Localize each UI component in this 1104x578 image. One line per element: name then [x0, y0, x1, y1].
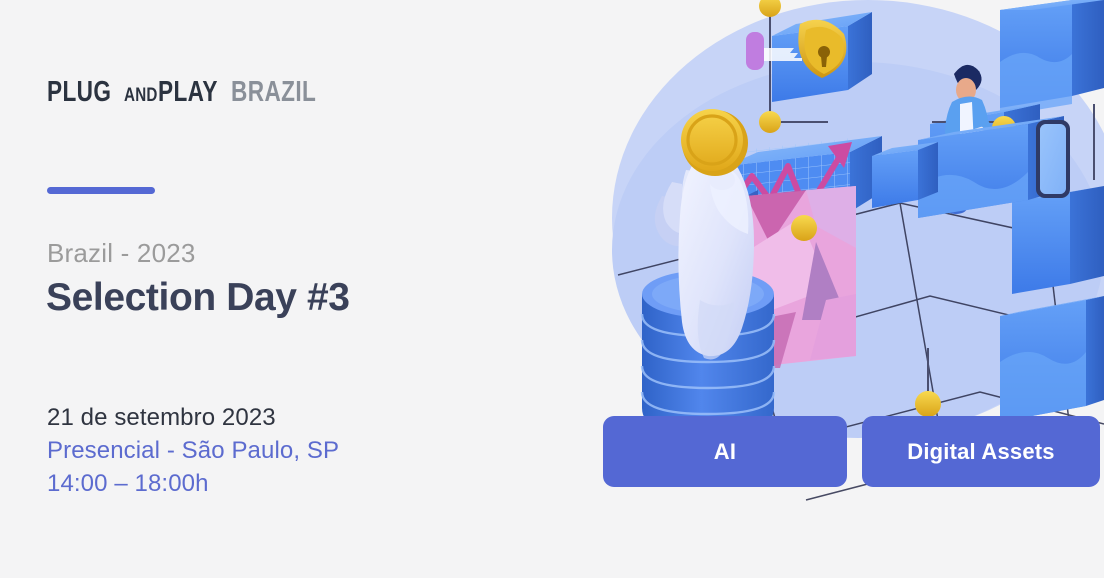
logo-word-and: AND [124, 85, 158, 107]
page-title: Selection Day #3 [46, 276, 350, 320]
event-details: 21 de setembro 2023 Presencial - São Pau… [47, 401, 339, 500]
logo-word-brazil: BRAZIL [231, 76, 316, 109]
plug-and-play-brazil-logo: PLUG AND PLAY BRAZIL [47, 76, 340, 109]
tag-ai[interactable]: AI [603, 416, 847, 487]
logo-word-play: PLAY [158, 76, 218, 109]
event-date: 21 de setembro 2023 [47, 401, 339, 434]
event-time: 14:00 – 18:00h [47, 467, 339, 500]
event-location: Presencial - São Paulo, SP [47, 434, 339, 467]
left-content-panel: PLUG AND PLAY BRAZIL Brazil - 2023 Selec… [0, 0, 600, 578]
event-banner: PLUG AND PLAY BRAZIL Brazil - 2023 Selec… [0, 0, 1104, 578]
eyebrow-label: Brazil - 2023 [47, 238, 196, 269]
topic-tag-group: AI Digital Assets [603, 416, 1100, 487]
accent-divider-bar [47, 187, 155, 194]
logo-word-plug: PLUG [47, 76, 111, 109]
tag-digital-assets[interactable]: Digital Assets [862, 416, 1100, 487]
